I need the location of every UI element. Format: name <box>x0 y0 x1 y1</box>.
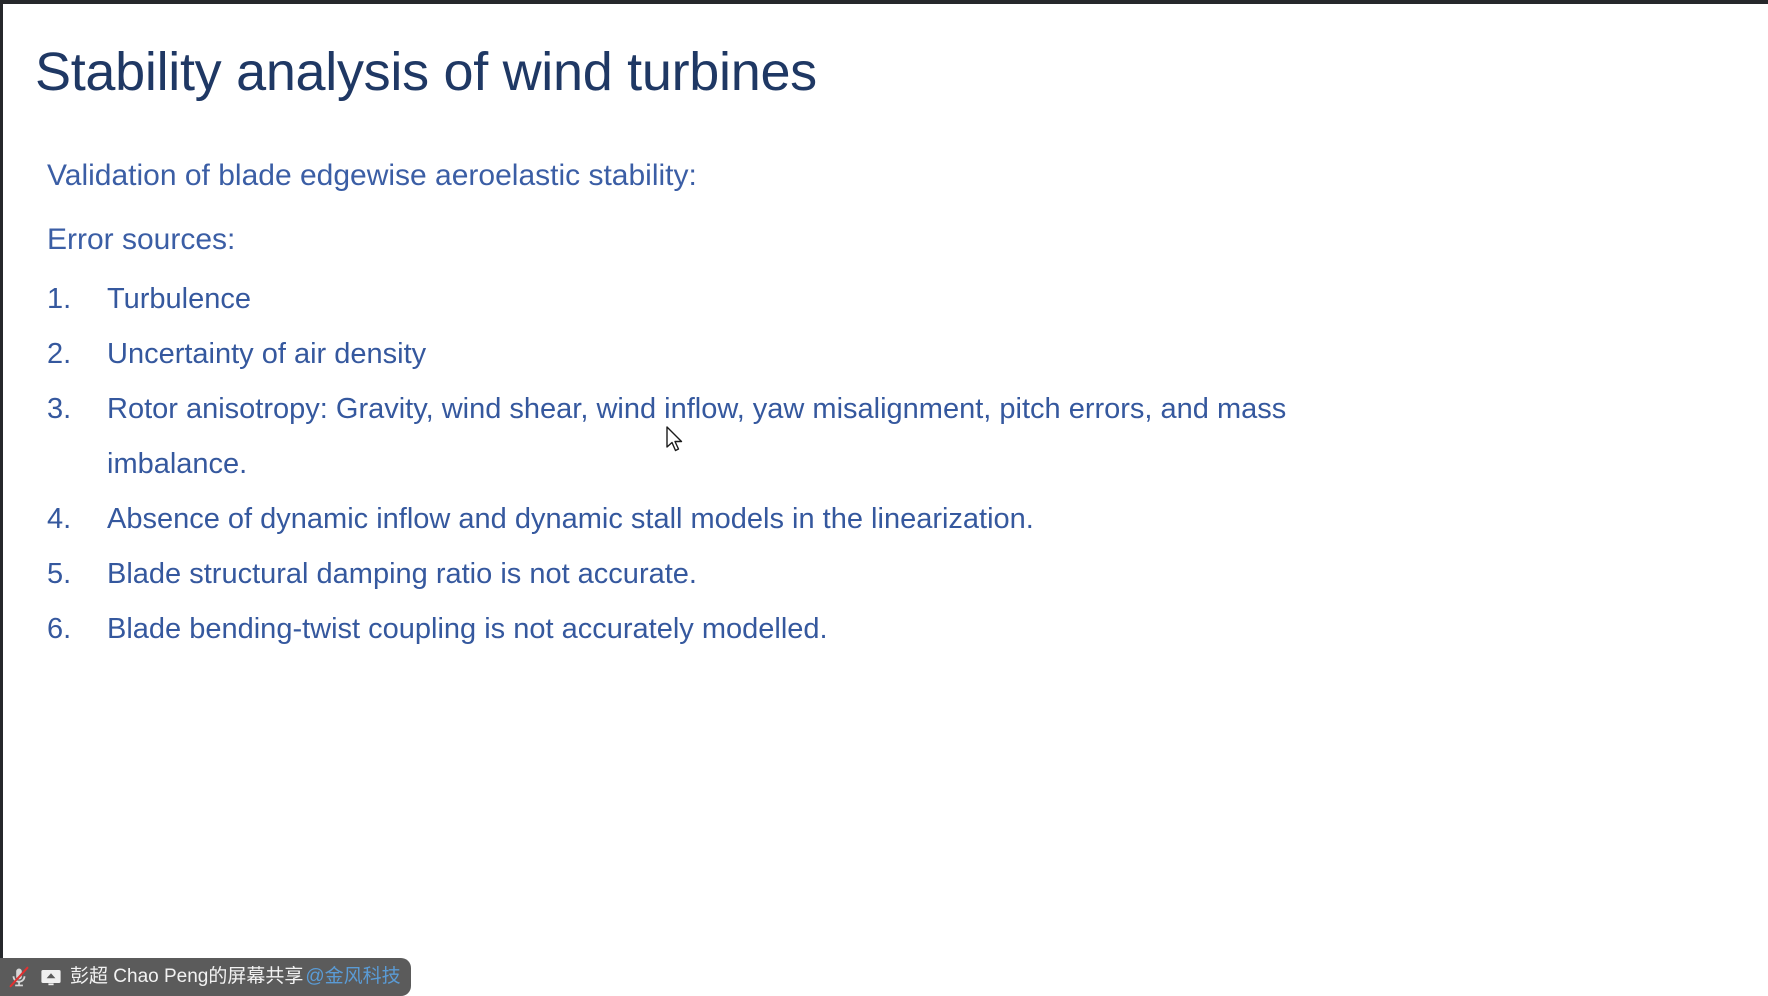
list-item-number: 6. <box>47 602 107 657</box>
slide-body: Validation of blade edgewise aeroelastic… <box>47 144 1697 657</box>
error-sources-list: 1. Turbulence 2. Uncertainty of air dens… <box>47 272 1697 657</box>
list-item-label: Blade bending-twist coupling is not accu… <box>107 602 1287 657</box>
share-owner-label: 彭超 Chao Peng的屏幕共享 <box>70 964 303 990</box>
list-item: 2. Uncertainty of air density <box>47 327 1697 382</box>
list-item-label: Turbulence <box>107 272 1287 327</box>
list-item-number: 4. <box>47 492 107 547</box>
screen-share-icon[interactable] <box>38 964 64 990</box>
list-item: 5. Blade structural damping ratio is not… <box>47 547 1697 602</box>
list-item-label: Rotor anisotropy: Gravity, wind shear, w… <box>107 382 1287 492</box>
list-item-number: 5. <box>47 547 107 602</box>
list-item: 6. Blade bending-twist coupling is not a… <box>47 602 1697 657</box>
share-mention-label: @金风科技 <box>305 964 400 990</box>
list-item: 1. Turbulence <box>47 272 1697 327</box>
screen-share-toolbar[interactable]: 彭超 Chao Peng的屏幕共享 @金风科技 <box>0 958 411 996</box>
presentation-slide: Stability analysis of wind turbines Vali… <box>3 4 1768 958</box>
list-item-number: 1. <box>47 272 107 327</box>
list-item-label: Absence of dynamic inflow and dynamic st… <box>107 492 1287 547</box>
shared-screen-frame: Stability analysis of wind turbines Vali… <box>0 0 1768 996</box>
list-item-number: 3. <box>47 382 107 437</box>
page-title: Stability analysis of wind turbines <box>35 40 817 104</box>
list-item-number: 2. <box>47 327 107 382</box>
list-item-label: Uncertainty of air density <box>107 327 1287 382</box>
validation-heading: Validation of blade edgewise aeroelastic… <box>47 144 1697 208</box>
list-item: 4. Absence of dynamic inflow and dynamic… <box>47 492 1697 547</box>
microphone-muted-icon[interactable] <box>6 964 32 990</box>
list-item: 3. Rotor anisotropy: Gravity, wind shear… <box>47 382 1697 492</box>
error-sources-heading: Error sources: <box>47 208 1697 272</box>
list-item-label: Blade structural damping ratio is not ac… <box>107 547 1287 602</box>
